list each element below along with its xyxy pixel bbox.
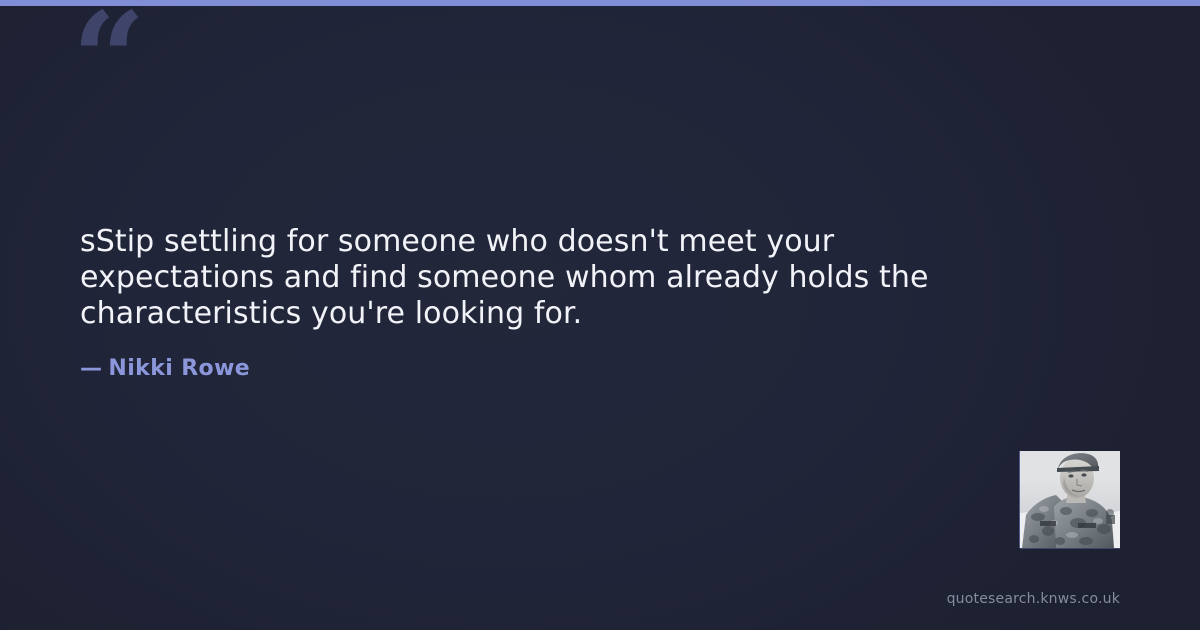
opening-quote-mark-icon: “ [72,0,144,124]
quote-text: sStip settling for someone who doesn't m… [80,224,1020,332]
top-accent-bar [0,0,1200,6]
soldier-portrait-icon [1020,451,1120,548]
quote-card: “ sStip settling for someone who doesn't… [0,0,1200,630]
site-watermark: quotesearch.knws.co.uk [947,591,1120,607]
quote-body: sStip settling for someone who doesn't m… [80,224,1020,332]
author-thumbnail[interactable] [1020,451,1120,548]
attribution-dash: — [80,356,102,381]
quote-attribution: —Nikki Rowe [80,356,250,381]
author-name: Nikki Rowe [108,356,250,381]
